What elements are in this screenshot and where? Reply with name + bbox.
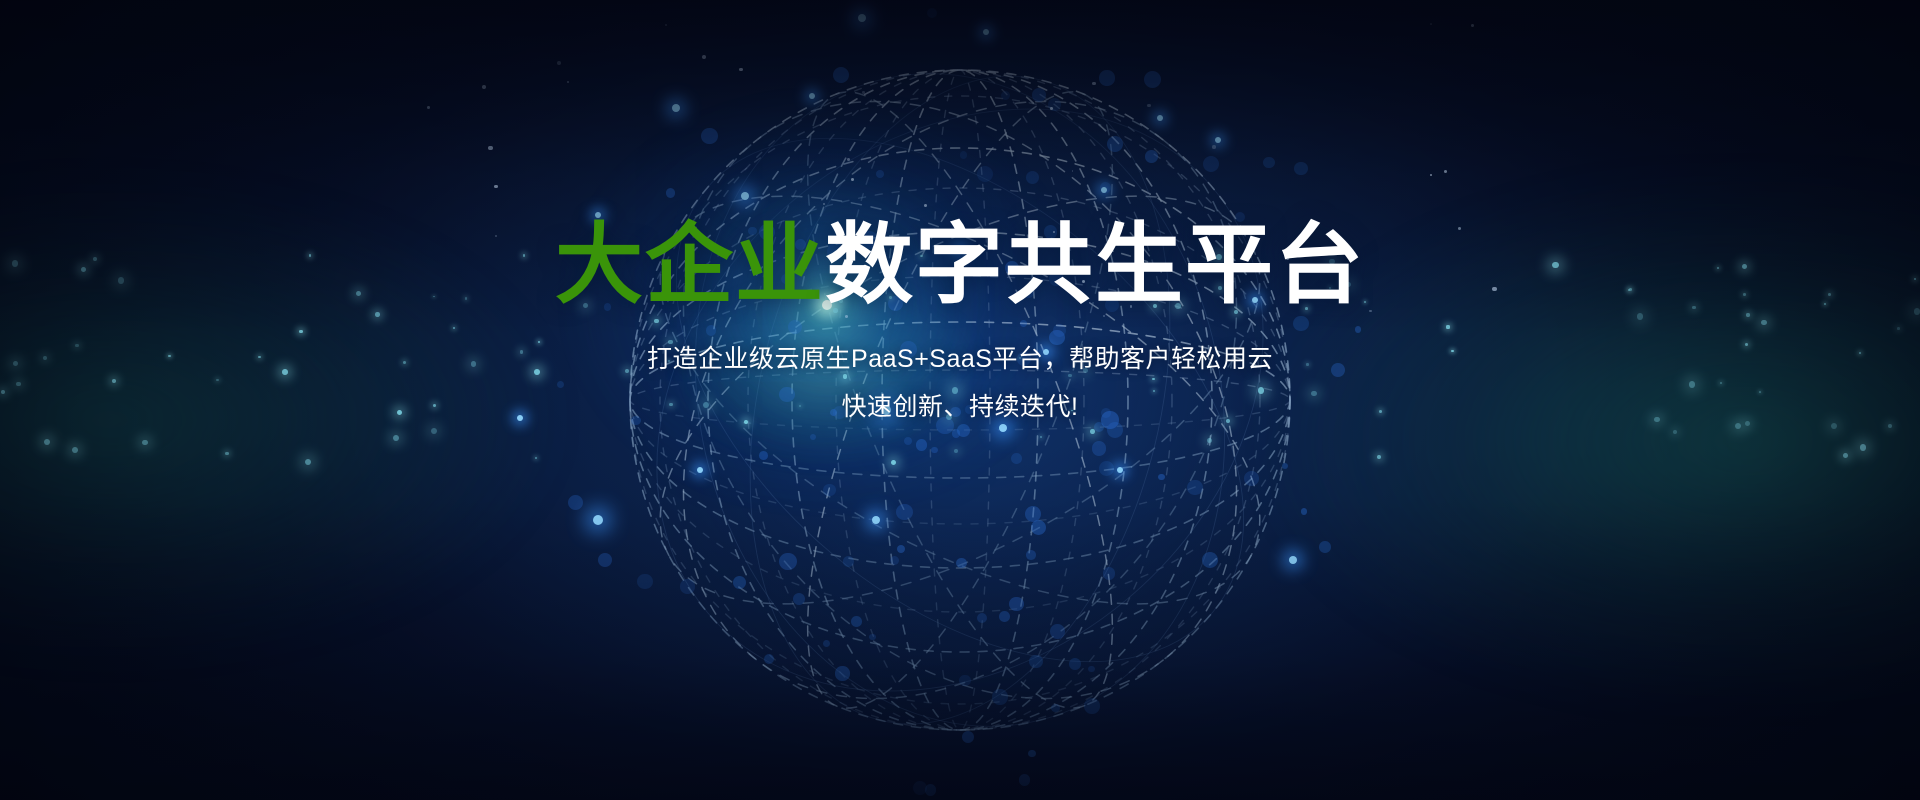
hero-subtitle-line-2: 快速创新、持续迭代! bbox=[0, 383, 1920, 431]
hero-subtitle: 打造企业级云原生PaaS+SaaS平台，帮助客户轻松用云 快速创新、持续迭代! bbox=[0, 335, 1920, 431]
hero-content: 大企业数字共生平台 打造企业级云原生PaaS+SaaS平台，帮助客户轻松用云 快… bbox=[0, 216, 1920, 431]
page-title: 大企业数字共生平台 bbox=[0, 216, 1920, 315]
hero-subtitle-line-1: 打造企业级云原生PaaS+SaaS平台，帮助客户轻松用云 bbox=[0, 335, 1920, 383]
page-title-highlight: 大企业 bbox=[555, 215, 825, 314]
hero-banner: 大企业数字共生平台 打造企业级云原生PaaS+SaaS平台，帮助客户轻松用云 快… bbox=[0, 0, 1920, 800]
page-title-rest: 数字共生平台 bbox=[825, 215, 1365, 314]
